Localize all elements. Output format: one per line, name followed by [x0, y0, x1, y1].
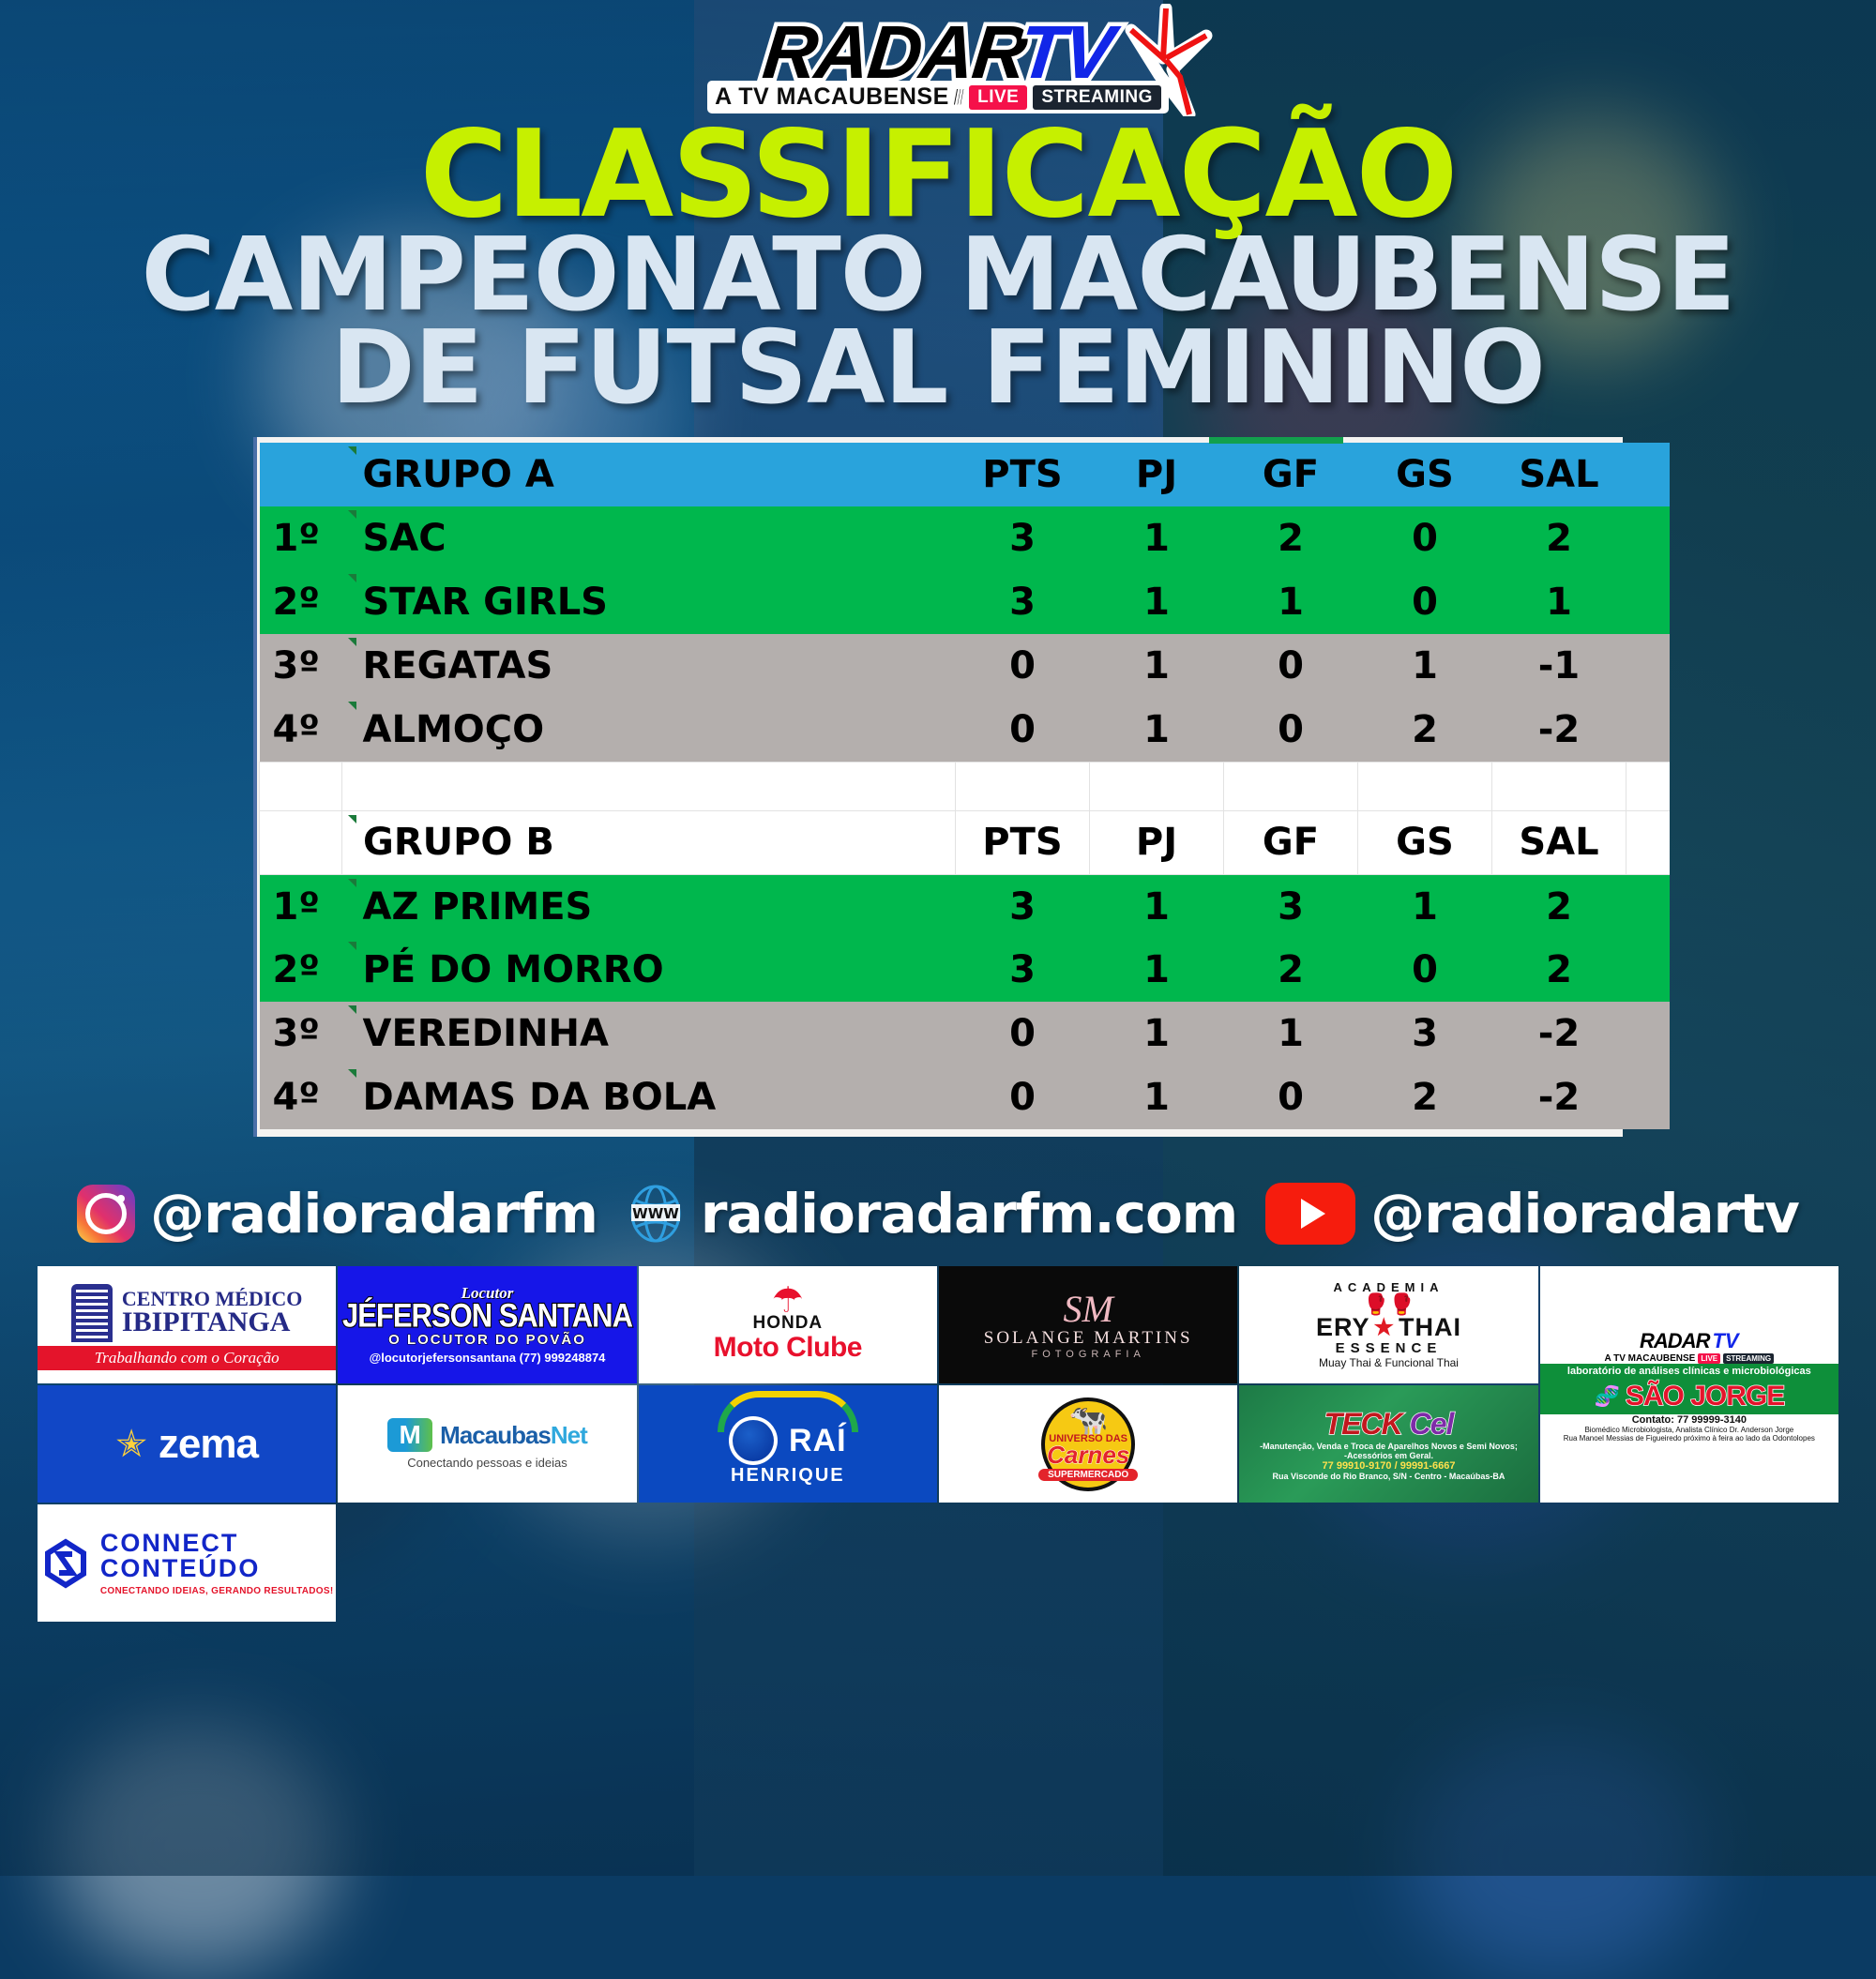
- cell-gs: 1: [1358, 634, 1492, 698]
- sponsor-line1: HONDA: [752, 1313, 823, 1334]
- sponsor-centro-medico-ibipitanga[interactable]: CENTRO MÉDICO IBIPITANGA Trabalhando com…: [38, 1266, 336, 1383]
- logo-radar-text: RADAR: [1640, 1329, 1709, 1353]
- cell-position: 1º: [260, 874, 342, 938]
- column-header-pj: PJ: [1090, 443, 1224, 506]
- sponsor-phones: 77 99910-9170 / 99991-6667: [1323, 1460, 1456, 1472]
- sponsor-zema[interactable]: ✭ zema: [38, 1385, 336, 1503]
- cell-gs: 0: [1358, 938, 1492, 1002]
- column-header-pts: PTS: [956, 443, 1090, 506]
- sponsor-solange-martins[interactable]: SM SOLANGE MARTINS FOTOGRAFIA: [939, 1266, 1237, 1383]
- table-row: 1ºAZ PRIMES31312: [260, 874, 1670, 938]
- building-icon: [71, 1284, 113, 1342]
- streaming-badge: STREAMING: [1723, 1353, 1774, 1364]
- page-subtitle-line1: CAMPEONATO MACAUBENSE: [0, 229, 1876, 322]
- cell-position: 4º: [260, 1065, 342, 1129]
- sponsor-address: Rua Visconde do Rio Branco, S/N - Centro…: [1273, 1472, 1505, 1481]
- cell-pj: 1: [1090, 698, 1224, 762]
- table-row: 3ºVEREDINHA0113-2: [260, 1002, 1670, 1065]
- cell-team: PÉ DO MORRO: [342, 938, 956, 1002]
- standings-table: GRUPO APTSPJGFGSSAL1ºSAC312022ºSTAR GIRL…: [259, 443, 1670, 1129]
- website-url: radioradarfm.com: [701, 1182, 1237, 1246]
- column-header-gs: GS: [1358, 443, 1492, 506]
- cell-gs: 1: [1358, 874, 1492, 938]
- sponsor-main-right: THAI: [1399, 1315, 1461, 1340]
- cell-team: DAMAS DA BOLA: [342, 1065, 956, 1129]
- monogram-icon: SM: [1064, 1291, 1113, 1328]
- cell-sal: 2: [1492, 874, 1626, 938]
- logo-tv-text: TV: [1712, 1329, 1738, 1353]
- table-row: 1ºSAC31202: [260, 506, 1670, 570]
- column-header-sal: SAL: [1492, 443, 1626, 506]
- cell-pts: 0: [956, 1002, 1090, 1065]
- cell-team: STAR GIRLS: [342, 570, 956, 634]
- cell-pts: 0: [956, 634, 1090, 698]
- cell-pj: 1: [1090, 874, 1224, 938]
- sponsor-honda-moto-clube[interactable]: ☂ HONDA Moto Clube: [639, 1266, 937, 1383]
- cell-gf: 0: [1224, 1065, 1358, 1129]
- cell-team: REGATAS: [342, 634, 956, 698]
- cell-gs: 0: [1358, 570, 1492, 634]
- cell-pj: 1: [1090, 1002, 1224, 1065]
- cell-position: 1º: [260, 506, 342, 570]
- cell-sal: -1: [1492, 634, 1626, 698]
- cell-pj: 1: [1090, 938, 1224, 1002]
- column-highlight-tab: [1209, 437, 1343, 444]
- column-header-gf: GF: [1224, 810, 1358, 874]
- sponsor-tagline: CONECTANDO IDEIAS, GERANDO RESULTADOS!: [100, 1586, 334, 1596]
- page-title: CLASSIFICAÇÃO: [0, 123, 1876, 229]
- sponsor-line1a: Macaubas: [440, 1421, 551, 1449]
- cell-pts: 3: [956, 570, 1090, 634]
- cell-gf: 2: [1224, 938, 1358, 1002]
- sponsor-ery-thai-essence[interactable]: ACADEMIA 🥊🥊 ERY ★ THAI ESSENCE Muay Thai…: [1239, 1266, 1537, 1383]
- column-header-pj: PJ: [1090, 810, 1224, 874]
- star-icon: ✭: [115, 1426, 147, 1463]
- table-row: 2ºPÉ DO MORRO31202: [260, 938, 1670, 1002]
- cell-gf: 1: [1224, 1002, 1358, 1065]
- cell-sal: 2: [1492, 938, 1626, 1002]
- logo-tv-text: TV: [1016, 17, 1115, 88]
- logo-radar-text: RADAR: [760, 17, 1029, 88]
- cell-team: SAC: [342, 506, 956, 570]
- cell-pts: 3: [956, 506, 1090, 570]
- cell-gs: 2: [1358, 1065, 1492, 1129]
- sponsor-grid: CENTRO MÉDICO IBIPITANGA Trabalhando com…: [38, 1266, 1838, 1622]
- sponsor-line1: CONNECT: [100, 1531, 334, 1556]
- header: RADAR TV A TV MACAUBENSE /// LIVE STREAM…: [0, 0, 1876, 415]
- sponsor-teck-cel[interactable]: TECK Cel -Manutenção, Venda e Troca de A…: [1239, 1385, 1537, 1503]
- standings-table-container: GRUPO APTSPJGFGSSAL1ºSAC312022ºSTAR GIRL…: [253, 437, 1623, 1137]
- cell-gs: 0: [1358, 506, 1492, 570]
- cell-position: 3º: [260, 634, 342, 698]
- sponsor-main: JÉFERSON SANTANA: [342, 1298, 632, 1332]
- logo-slashes: ///: [955, 85, 963, 110]
- youtube-link[interactable]: @radioradartv: [1265, 1182, 1799, 1246]
- table-row: 3ºREGATAS0101-1: [260, 634, 1670, 698]
- sponsor-line2: Moto Clube: [714, 1334, 862, 1362]
- cell-gf: 2: [1224, 506, 1358, 570]
- cell-pts: 0: [956, 1065, 1090, 1129]
- group-header-row: GRUPO BPTSPJGFGSSAL: [260, 810, 1670, 874]
- svg-text:WWW: WWW: [632, 1205, 679, 1222]
- sponsor-contact: Contato: 77 99999-3140: [1632, 1414, 1747, 1426]
- column-header-gs: GS: [1358, 810, 1492, 874]
- sponsor-title: SÃO JORGE: [1626, 1381, 1784, 1412]
- sponsor-text: zema: [159, 1421, 258, 1468]
- kickboxer-icon: 🥊🥊: [1363, 1294, 1415, 1315]
- sponsor-line2: -Acessórios em Geral.: [1344, 1451, 1433, 1460]
- sponsor-line2: Carnes: [1047, 1444, 1129, 1466]
- sponsor-contact: @locutorjefersonsantana (77) 999248874: [370, 1351, 606, 1366]
- cell-gf: 0: [1224, 698, 1358, 762]
- cell-position: 3º: [260, 1002, 342, 1065]
- sponsor-foot: Muay Thai & Funcional Thai: [1319, 1356, 1459, 1369]
- sponsor-detail2: Rua Manoel Messias de Figueiredo próximo…: [1564, 1434, 1815, 1443]
- cell-sal: -2: [1492, 698, 1626, 762]
- website-link[interactable]: WWW radioradarfm.com: [626, 1182, 1237, 1246]
- live-badge: LIVE: [1698, 1353, 1720, 1364]
- cell-gf: 3: [1224, 874, 1358, 938]
- sponsor-rai-henrique[interactable]: RAÍ HENRIQUE: [639, 1385, 937, 1503]
- cell-gf: 1: [1224, 570, 1358, 634]
- cell-sal: 1: [1492, 570, 1626, 634]
- cell-team: ALMOÇO: [342, 698, 956, 762]
- table-row: 2ºSTAR GIRLS31101: [260, 570, 1670, 634]
- instagram-icon: [77, 1185, 135, 1243]
- sponsor-line1: SOLANGE MARTINS: [984, 1328, 1193, 1349]
- sponsor-line3: SUPERMERCADO: [1038, 1469, 1138, 1481]
- group-header-row: GRUPO APTSPJGFGSSAL: [260, 443, 1670, 506]
- sponsor-line2: IBIPITANGA: [122, 1309, 303, 1337]
- page-subtitle-line2: DE FUTSAL FEMININO: [0, 322, 1876, 415]
- globe-ball-icon: [729, 1416, 778, 1465]
- cell-sal: -2: [1492, 1002, 1626, 1065]
- group-name: GRUPO B: [342, 810, 956, 874]
- cell-position: 4º: [260, 698, 342, 762]
- sponsor-connect-conteudo[interactable]: CONNECT CONTEÚDO CONECTANDO IDEIAS, GERA…: [38, 1504, 336, 1622]
- cell-pj: 1: [1090, 634, 1224, 698]
- table-spacer-row: [260, 762, 1670, 810]
- cell-pts: 3: [956, 874, 1090, 938]
- sponsor-tagline: Conectando pessoas e ideias: [407, 1456, 567, 1470]
- bull-head-icon: 🐄: [1068, 1408, 1108, 1433]
- cell-pj: 1: [1090, 570, 1224, 634]
- cell-pts: 0: [956, 698, 1090, 762]
- macaubasnet-mark-icon: M: [387, 1418, 432, 1452]
- sponsor-tagline: Trabalhando com o Coração: [38, 1346, 336, 1370]
- social-bar: @radioradarfm WWW radioradarfm.com @radi…: [0, 1182, 1876, 1246]
- sponsor-title-b: Cel: [1410, 1407, 1454, 1441]
- live-badge: LIVE: [969, 85, 1027, 110]
- cell-team: VEREDINHA: [342, 1002, 956, 1065]
- youtube-icon: [1265, 1183, 1355, 1245]
- logo-subtitle-text: A TV MACAUBENSE: [1605, 1353, 1696, 1364]
- sponsor-universo-das-carnes[interactable]: 🐄 UNIVERSO DAS Carnes SUPERMERCADO: [939, 1385, 1237, 1503]
- sponsor-green-line: laboratório de análises clínicas e micro…: [1540, 1364, 1838, 1379]
- cell-position: 2º: [260, 938, 342, 1002]
- radartv-mini-logo: RADAR TV: [1540, 1327, 1838, 1353]
- cell-pts: 3: [956, 938, 1090, 1002]
- sponsor-line2: HENRIQUE: [731, 1465, 845, 1487]
- cell-sal: 2: [1492, 506, 1626, 570]
- cell-team: AZ PRIMES: [342, 874, 956, 938]
- logo-wordmark: RADAR TV: [707, 17, 1169, 88]
- microscope-icon: 🧬: [1594, 1384, 1619, 1409]
- column-header-pts: PTS: [956, 810, 1090, 874]
- table-row: 4ºDAMAS DA BOLA0102-2: [260, 1065, 1670, 1129]
- cell-sal: -2: [1492, 1065, 1626, 1129]
- star-icon: ★: [1373, 1317, 1395, 1339]
- sponsor-main-left: ERY: [1316, 1315, 1370, 1340]
- logo-subtitle-bar: A TV MACAUBENSE /// LIVE STREAMING: [707, 81, 1169, 113]
- cell-pj: 1: [1090, 506, 1224, 570]
- sponsor-line2: CONTEÚDO: [100, 1556, 334, 1581]
- cell-gs: 2: [1358, 698, 1492, 762]
- sponsor-mid: ESSENCE: [1336, 1340, 1443, 1356]
- column-header-gf: GF: [1224, 443, 1358, 506]
- logo-subtitle-text: A TV MACAUBENSE: [715, 83, 949, 111]
- sponsor-line2: FOTOGRAFIA: [1032, 1349, 1145, 1360]
- sponsor-macaubasnet[interactable]: M MacaubasNet Conectando pessoas e ideia…: [338, 1385, 636, 1503]
- honda-wing-icon: ☂: [772, 1289, 804, 1314]
- group-name: GRUPO A: [342, 443, 956, 506]
- column-header-sal: SAL: [1492, 810, 1626, 874]
- cell-position: 2º: [260, 570, 342, 634]
- sponsor-line1: -Manutenção, Venda e Troca de Aparelhos …: [1260, 1442, 1518, 1451]
- radartv-logo: RADAR TV A TV MACAUBENSE /// LIVE STREAM…: [707, 17, 1169, 113]
- sponsor-laboratorio-sao-jorge[interactable]: RADAR TV A TV MACAUBENSE LIVE STREAMING …: [1540, 1266, 1838, 1503]
- instagram-handle: @radioradarfm: [150, 1182, 598, 1246]
- youtube-handle: @radioradartv: [1370, 1182, 1799, 1246]
- cell-gf: 0: [1224, 634, 1358, 698]
- cell-pj: 1: [1090, 1065, 1224, 1129]
- globe-www-icon: WWW: [626, 1184, 686, 1244]
- connect-mark-icon: [40, 1538, 91, 1589]
- cell-gs: 3: [1358, 1002, 1492, 1065]
- streaming-badge: STREAMING: [1033, 85, 1161, 110]
- table-row: 4ºALMOÇO0102-2: [260, 698, 1670, 762]
- standings-table-body: GRUPO APTSPJGFGSSAL1ºSAC312022ºSTAR GIRL…: [260, 443, 1670, 1129]
- sponsor-title-a: TECK: [1324, 1407, 1402, 1441]
- instagram-link[interactable]: @radioradarfm: [77, 1182, 598, 1246]
- sponsor-jeferson-santana[interactable]: Locutor JÉFERSON SANTANA O LOCUTOR DO PO…: [338, 1266, 636, 1383]
- sponsor-line1b: Net: [551, 1421, 587, 1449]
- sponsor-detail1: Biomédico Microbiologista, Analista Clín…: [1584, 1426, 1793, 1434]
